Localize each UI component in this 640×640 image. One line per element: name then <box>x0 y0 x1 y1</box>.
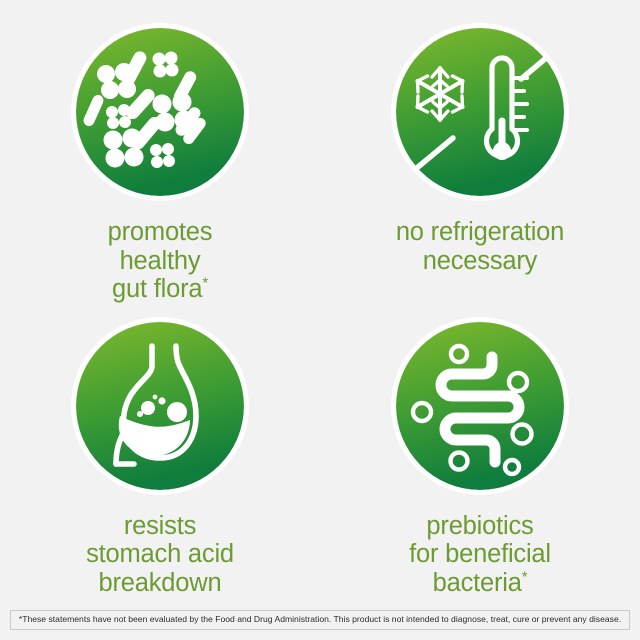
caption-line-2: necessary <box>396 247 564 276</box>
no-refrigeration-icon <box>396 28 564 196</box>
benefit-card-gut-flora: promotes healthy gut flora* <box>0 10 320 304</box>
caption-line-3: gut flora* <box>108 275 213 304</box>
stomach-acid-icon <box>76 322 244 490</box>
benefits-grid: promotes healthy gut flora* <box>0 10 640 590</box>
caption-line-3: bacteria* <box>409 569 551 598</box>
caption-line-2: stomach acid <box>86 540 234 569</box>
benefits-panel: promotes healthy gut flora* <box>0 0 640 640</box>
caption-line-3: breakdown <box>86 569 234 598</box>
intestine-icon <box>396 322 564 490</box>
benefit-caption-prebiotics: prebiotics for beneficial bacteria* <box>409 512 551 598</box>
badge-prebiotics <box>396 322 564 490</box>
footnote-asterisk: * <box>202 275 208 292</box>
disclaimer-bar: *These statements have not been evaluate… <box>10 610 630 630</box>
caption-line-1: prebiotics <box>409 512 551 541</box>
disclaimer-text: *These statements have not been evaluate… <box>16 615 624 624</box>
caption-line-1: promotes <box>108 218 213 247</box>
badge-gut-flora <box>76 28 244 196</box>
benefit-caption-stomach-acid: resists stomach acid breakdown <box>86 512 234 598</box>
caption-line-1: no refrigeration <box>396 218 564 247</box>
badge-stomach-acid <box>76 322 244 490</box>
benefit-card-prebiotics: prebiotics for beneficial bacteria* <box>320 304 640 598</box>
footnote-asterisk: * <box>522 568 528 585</box>
benefit-card-no-refrigeration: no refrigeration necessary <box>320 10 640 304</box>
caption-line-2: for beneficial <box>409 540 551 569</box>
badge-no-refrigeration <box>396 28 564 196</box>
benefit-caption-gut-flora: promotes healthy gut flora* <box>108 218 213 304</box>
caption-line-2: healthy <box>108 247 213 276</box>
benefit-caption-no-refrigeration: no refrigeration necessary <box>396 218 564 275</box>
bacteria-icon <box>76 28 244 196</box>
benefit-card-stomach-acid: resists stomach acid breakdown <box>0 304 320 598</box>
caption-line-1: resists <box>86 512 234 541</box>
